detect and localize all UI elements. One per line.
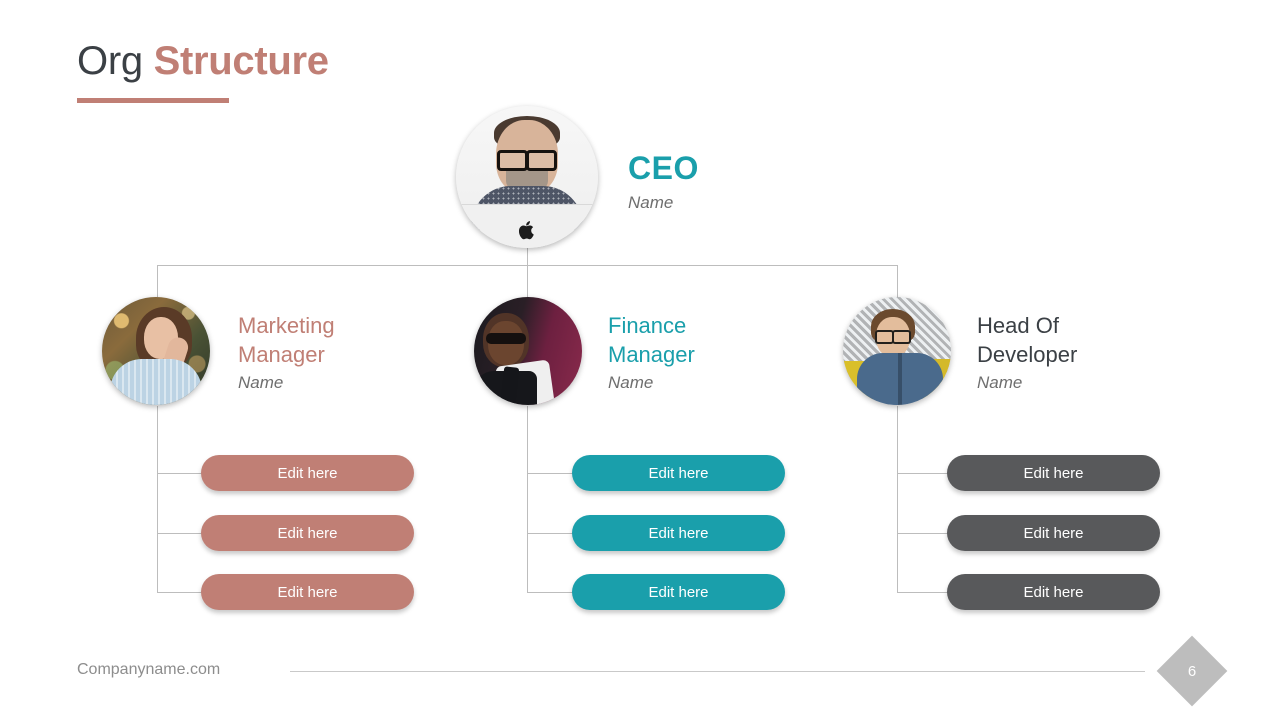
apple-logo-icon: [519, 220, 536, 240]
finance-manager-photo: [474, 297, 582, 405]
marketing-manager-photo: [102, 297, 210, 405]
pill-finance-0[interactable]: Edit here: [572, 455, 785, 491]
avatar-marketing-manager: [102, 297, 210, 405]
avatar-head-of-developer: [843, 297, 951, 405]
role-block-developer: Head Of Developer Name: [977, 311, 1102, 393]
pill-finance-1[interactable]: Edit here: [572, 515, 785, 551]
role-name-developer: Name: [977, 373, 1102, 393]
connector-stub-finance-0: [527, 473, 577, 474]
title-plain: Org: [77, 39, 154, 83]
page-number: 6: [1167, 646, 1217, 696]
connector-drop-finance: [527, 265, 528, 301]
connector-stub-marketing-1: [157, 533, 207, 534]
role-title-finance: Finance Manager: [608, 311, 728, 369]
role-block-finance: Finance Manager Name: [608, 311, 728, 393]
pill-marketing-0[interactable]: Edit here: [201, 455, 414, 491]
connector-spine-marketing: [157, 406, 158, 593]
role-title-marketing: Marketing Manager: [238, 311, 388, 369]
title-underline: [77, 98, 229, 103]
role-name-marketing: Name: [238, 373, 388, 393]
pill-marketing-1[interactable]: Edit here: [201, 515, 414, 551]
connector-stub-marketing-2: [157, 592, 207, 593]
role-block-marketing: Marketing Manager Name: [238, 311, 388, 393]
connector-stub-finance-2: [527, 592, 577, 593]
footer-divider: [290, 671, 1145, 672]
role-title-ceo: CEO: [628, 150, 699, 186]
connector-stub-developer-0: [897, 473, 952, 474]
connector-stub-developer-1: [897, 533, 952, 534]
connector-drop-marketing: [157, 265, 158, 301]
avatar-ceo: [456, 106, 598, 248]
pill-developer-2[interactable]: Edit here: [947, 574, 1160, 610]
role-name-finance: Name: [608, 373, 728, 393]
connector-stub-developer-2: [897, 592, 952, 593]
pill-developer-0[interactable]: Edit here: [947, 455, 1160, 491]
role-block-ceo: CEO Name: [628, 150, 699, 213]
pill-finance-2[interactable]: Edit here: [572, 574, 785, 610]
footer-company-name: Companyname.com: [77, 661, 220, 679]
title-accent: Structure: [154, 39, 329, 83]
connector-spine-developer: [897, 406, 898, 593]
glasses-icon: [497, 150, 557, 165]
role-title-developer: Head Of Developer: [977, 311, 1102, 369]
connector-stub-marketing-0: [157, 473, 207, 474]
connector-spine-finance: [527, 406, 528, 593]
glasses-icon: [875, 330, 911, 340]
role-name-ceo: Name: [628, 193, 699, 213]
page-title: Org Structure: [77, 36, 329, 86]
connector-stub-finance-1: [527, 533, 577, 534]
sunglasses-icon: [486, 333, 526, 344]
connector-drop-developer: [897, 265, 898, 301]
pill-marketing-2[interactable]: Edit here: [201, 574, 414, 610]
pill-developer-1[interactable]: Edit here: [947, 515, 1160, 551]
avatar-finance-manager: [474, 297, 582, 405]
slide: Org Structure CEO: [0, 0, 1280, 720]
ceo-photo: [456, 106, 598, 248]
head-of-developer-photo: [843, 297, 951, 405]
